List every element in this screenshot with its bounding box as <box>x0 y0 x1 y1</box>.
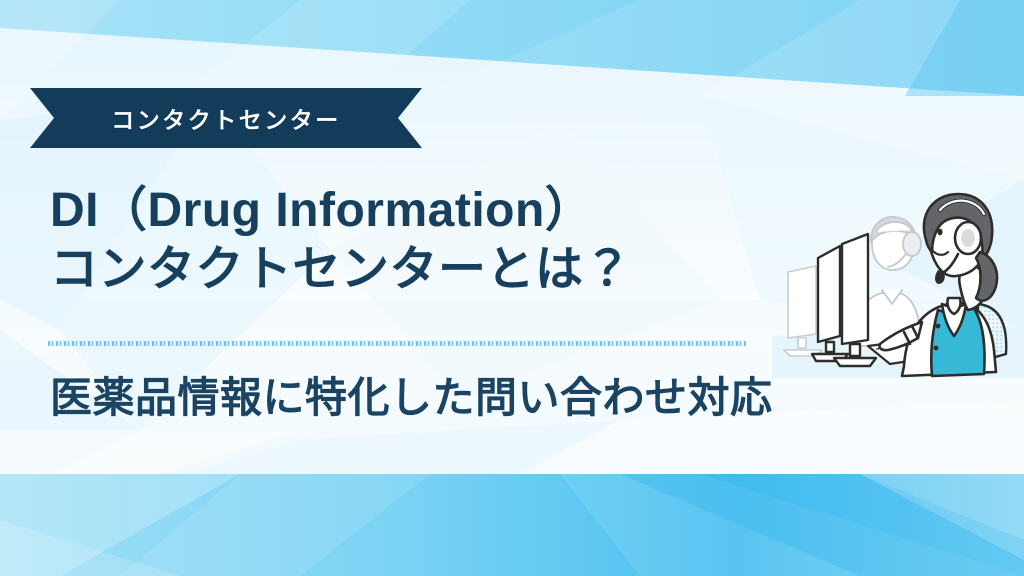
ribbon-banner: コンタクトセンター <box>30 88 422 148</box>
page-subtitle: 医薬品情報に特化した問い合わせ対応 <box>50 364 773 425</box>
ribbon-label: コンタクトセンター <box>30 88 422 148</box>
page-title: DI（Drug Information） コンタクトセンターとは？ <box>50 182 810 299</box>
page-title-line-1: DI（Drug Information） <box>50 182 810 241</box>
page-title-line-2: コンタクトセンターとは？ <box>50 241 810 300</box>
call-center-operators-illustration <box>772 186 1024 378</box>
title-divider <box>48 341 746 346</box>
slide-canvas: コンタクトセンター DI（Drug Information） コンタクトセンター… <box>0 0 1024 576</box>
